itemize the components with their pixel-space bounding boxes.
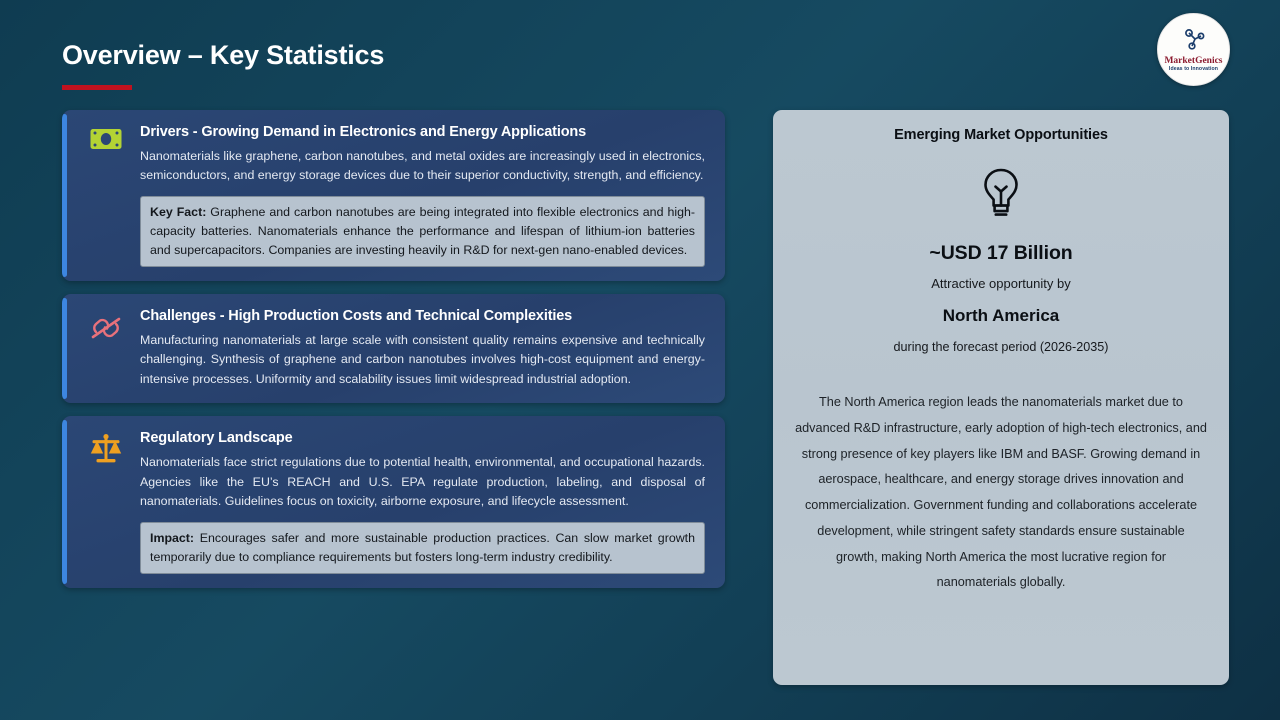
forecast-period: during the forecast period (2026-2035) (791, 340, 1211, 354)
title-underline-rule (62, 85, 132, 90)
molecule-node-icon (1181, 28, 1207, 55)
card-drivers: Drivers - Growing Demand in Electronics … (62, 110, 725, 281)
logo-tagline: Ideas to Innovation (1169, 67, 1218, 73)
brand-logo: MarketGenics Ideas to Innovation (1157, 13, 1230, 86)
card-body-text: Nanomaterials like graphene, carbon nano… (140, 147, 705, 186)
key-fact-label: Key Fact: (150, 205, 206, 219)
balance-scales-icon (86, 433, 126, 473)
banknote-icon (86, 127, 126, 167)
card-title: Challenges - High Production Costs and T… (140, 308, 705, 324)
card-accent-bar (62, 420, 67, 583)
card-title: Regulatory Landscape (140, 430, 705, 446)
card-accent-bar (62, 114, 67, 277)
panel-title: Emerging Market Opportunities (791, 127, 1211, 143)
card-accent-bar (62, 298, 67, 399)
card-body-text: Manufacturing nanomaterials at large sca… (140, 331, 705, 389)
broken-link-icon (86, 313, 126, 353)
impact-box: Impact: Encourages safer and more sustai… (140, 522, 705, 574)
card-body-text: Nanomaterials face strict regulations du… (140, 453, 705, 511)
card-regulatory: Regulatory Landscape Nanomaterials face … (62, 416, 725, 587)
key-fact-text: Graphene and carbon nanotubes are being … (150, 205, 695, 257)
card-challenges: Challenges - High Production Costs and T… (62, 294, 725, 403)
region-name: North America (791, 306, 1211, 326)
page-title: Overview – Key Statistics (62, 40, 384, 71)
impact-text: Encourages safer and more sustainable pr… (150, 531, 695, 564)
lightbulb-icon (791, 167, 1211, 219)
cards-column: Drivers - Growing Demand in Electronics … (62, 110, 725, 688)
emerging-opportunities-panel: Emerging Market Opportunities ~USD 17 Bi… (773, 110, 1229, 685)
market-value: ~USD 17 Billion (791, 242, 1211, 265)
key-fact-box: Key Fact: Graphene and carbon nanotubes … (140, 196, 705, 267)
opportunity-subtitle: Attractive opportunity by (791, 276, 1211, 291)
card-title: Drivers - Growing Demand in Electronics … (140, 124, 705, 140)
panel-description: The North America region leads the nanom… (791, 390, 1211, 596)
impact-label: Impact: (150, 531, 194, 545)
